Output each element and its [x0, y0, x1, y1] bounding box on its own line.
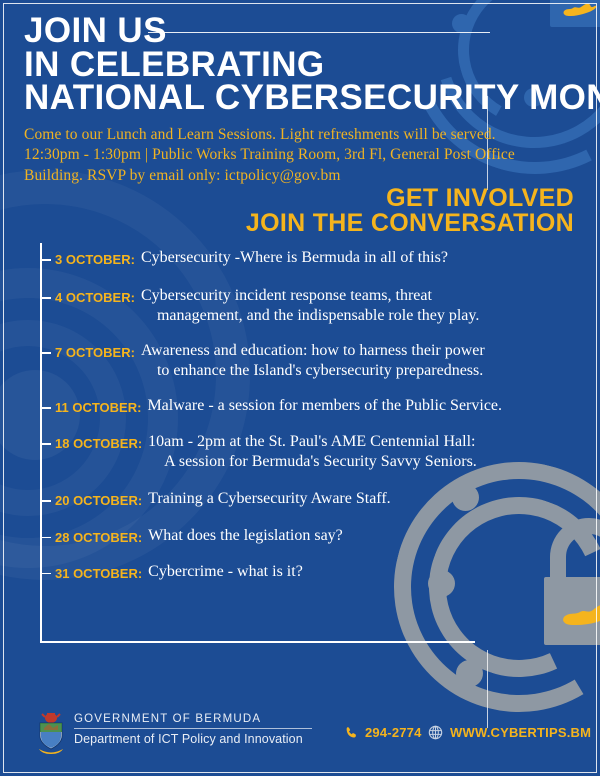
schedule-item: 3 OCTOBER:Cybersecurity -Where is Bermud… [40, 248, 585, 270]
schedule-item-date: 18 OCTOBER: [55, 432, 142, 454]
schedule-item-description: Cybersecurity incident response teams, t… [135, 286, 479, 325]
timeline-tick [40, 573, 51, 575]
schedule-item-description: Training a Cybersecurity Aware Staff. [142, 489, 390, 509]
schedule-item-description: What does the legislation say? [142, 526, 343, 546]
schedule-item-line: Cybersecurity incident response teams, t… [141, 286, 479, 306]
schedule-item-date: 11 OCTOBER: [55, 396, 141, 418]
schedule-item: 31 OCTOBER:Cybercrime - what is it? [40, 562, 585, 584]
schedule-item-date: 31 OCTOBER: [55, 562, 142, 584]
schedule-item-description: Cybercrime - what is it? [142, 562, 303, 582]
schedule-item-description: Malware - a session for members of the P… [141, 396, 502, 416]
headline-line-1: JOIN US [24, 14, 600, 48]
schedule-item: 4 OCTOBER:Cybersecurity incident respons… [40, 286, 585, 325]
event-details: Come to our Lunch and Learn Sessions. Li… [24, 125, 544, 186]
government-name: GOVERNMENT OF BERMUDA [74, 713, 312, 725]
timeline-tick [40, 443, 51, 445]
schedule-item-line: Malware - a session for members of the P… [147, 396, 502, 416]
timeline-tick [40, 352, 51, 354]
schedule-item: 28 OCTOBER:What does the legislation say… [40, 526, 585, 548]
timeline-tick [40, 537, 51, 539]
schedule-item-date: 28 OCTOBER: [55, 526, 142, 548]
schedule-item-line: to enhance the Island's cybersecurity pr… [141, 361, 485, 381]
government-block: GOVERNMENT OF BERMUDA Department of ICT … [74, 713, 312, 746]
schedule-list: 3 OCTOBER:Cybersecurity -Where is Bermud… [40, 248, 585, 584]
schedule-item: 18 OCTOBER:10am - 2pm at the St. Paul's … [40, 432, 585, 471]
cta-line-2: JOIN THE CONVERSATION [246, 211, 574, 236]
headline-line-3: NATIONAL CYBERSECURITY MONTH [24, 81, 600, 115]
event-details-line-2: 12:30pm - 1:30pm | Public Works Training… [24, 145, 544, 165]
schedule-item-date: 4 OCTOBER: [55, 286, 135, 308]
event-details-line-1: Come to our Lunch and Learn Sessions. Li… [24, 125, 544, 145]
schedule-item-description: 10am - 2pm at the St. Paul's AME Centenn… [142, 432, 477, 471]
headline-line-2: IN CELEBRATING [24, 48, 600, 82]
department-name: Department of ICT Policy and Innovation [74, 732, 312, 746]
schedule-item-line: Cybersecurity -Where is Bermuda in all o… [141, 248, 448, 268]
footer-rule [74, 728, 312, 729]
phone-number: 294-2774 [365, 725, 422, 740]
schedule-item-line: 10am - 2pm at the St. Paul's AME Centenn… [148, 432, 477, 452]
footer: GOVERNMENT OF BERMUDA Department of ICT … [0, 705, 600, 761]
globe-icon [428, 725, 443, 740]
schedule-item-description: Cybersecurity -Where is Bermuda in all o… [135, 248, 448, 268]
website-contact[interactable]: WWW.CYBERTIPS.BM [428, 725, 591, 740]
schedule-item-line: Training a Cybersecurity Aware Staff. [148, 489, 390, 509]
cta-line-1: GET INVOLVED [246, 186, 574, 211]
schedule-item-line: A session for Bermuda's Security Savvy S… [148, 452, 477, 472]
timeline-tick [40, 297, 51, 299]
timeline-tick [40, 259, 51, 261]
poster-canvas: JOIN US IN CELEBRATING NATIONAL CYBERSEC… [0, 0, 600, 776]
timeline-bottom-line [40, 641, 475, 643]
timeline-tick [40, 500, 51, 502]
timeline-tick [40, 407, 51, 409]
schedule-item: 7 OCTOBER:Awareness and education: how t… [40, 341, 585, 380]
phone-contact[interactable]: 294-2774 [345, 725, 422, 740]
schedule-item-description: Awareness and education: how to harness … [135, 341, 485, 380]
schedule-item-line: Cybercrime - what is it? [148, 562, 303, 582]
page-title: JOIN US IN CELEBRATING NATIONAL CYBERSEC… [24, 14, 600, 115]
schedule-item-date: 3 OCTOBER: [55, 248, 135, 270]
phone-icon [345, 726, 358, 739]
schedule-item-date: 20 OCTOBER: [55, 489, 142, 511]
call-to-action: GET INVOLVED JOIN THE CONVERSATION [246, 186, 574, 236]
schedule-item-line: What does the legislation say? [148, 526, 343, 546]
schedule-item: 20 OCTOBER:Training a Cybersecurity Awar… [40, 489, 585, 511]
schedule-item-line: management, and the indispensable role t… [141, 306, 479, 326]
schedule-item-date: 7 OCTOBER: [55, 341, 135, 363]
headline-rule [148, 32, 490, 33]
schedule-item-line: Awareness and education: how to harness … [141, 341, 485, 361]
bermuda-coat-of-arms-icon [36, 711, 66, 755]
schedule-item: 11 OCTOBER:Malware - a session for membe… [40, 396, 585, 418]
website-url: WWW.CYBERTIPS.BM [450, 725, 591, 740]
decorative-dot [456, 660, 483, 687]
